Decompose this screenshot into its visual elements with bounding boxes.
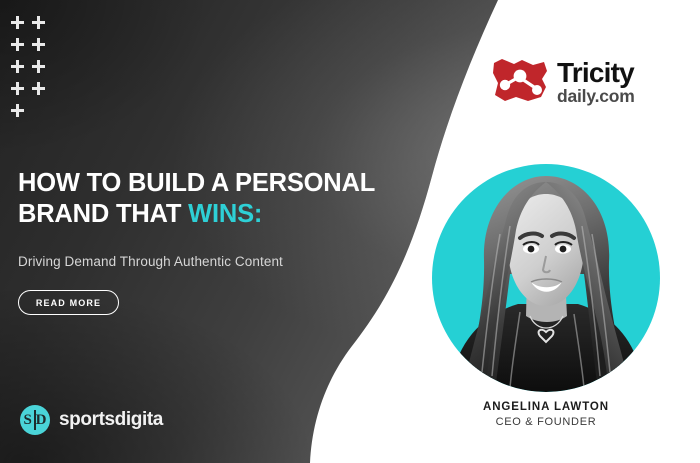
plus-icon — [11, 60, 24, 73]
headline-block: HOW TO BUILD A PERSONALBRAND THAT WINS: — [18, 168, 418, 230]
sportsdigita-mark-icon: S D — [20, 405, 50, 435]
tricity-name: Tricity — [557, 59, 635, 87]
plus-icon — [32, 38, 45, 51]
plus-icon — [11, 16, 24, 29]
read-more-button[interactable]: READ MORE — [18, 290, 119, 315]
plus-icon — [32, 60, 45, 73]
tricity-wordmark-block: Tricity daily.com — [557, 57, 635, 106]
plus-icon — [11, 82, 24, 95]
person-name: ANGELINA LAWTON — [432, 400, 660, 415]
headline-accent-word: WINS: — [188, 200, 262, 228]
headline-line-2-prefix: BRAND THAT — [18, 200, 188, 228]
person-role: CEO & FOUNDER — [432, 415, 660, 430]
tricity-domain: daily.com — [557, 88, 635, 106]
plus-icon — [32, 82, 45, 95]
portrait-avatar — [432, 164, 660, 392]
portrait-photo — [432, 164, 660, 392]
sportsdigita-mark-divider — [34, 410, 36, 430]
plus-icon — [11, 104, 24, 117]
read-more-label: READ MORE — [36, 298, 101, 308]
sportsdigita-logo: S D sportsdigita — [20, 405, 163, 435]
portrait-caption: ANGELINA LAWTON CEO & FOUNDER — [432, 400, 660, 430]
tricity-map-network-icon — [492, 57, 550, 103]
page-title: HOW TO BUILD A PERSONALBRAND THAT WINS: — [18, 168, 418, 230]
plus-icon — [32, 16, 45, 29]
plus-decoration-grid — [0, 0, 70, 130]
promo-banner: HOW TO BUILD A PERSONALBRAND THAT WINS: … — [0, 0, 700, 463]
plus-icon — [11, 38, 24, 51]
subtitle: Driving Demand Through Authentic Content — [18, 254, 283, 269]
headline-line-1: HOW TO BUILD A PERSONAL — [18, 169, 375, 197]
tricity-daily-logo[interactable]: Tricity daily.com — [492, 57, 635, 106]
sportsdigita-wordmark: sportsdigita — [59, 409, 163, 431]
